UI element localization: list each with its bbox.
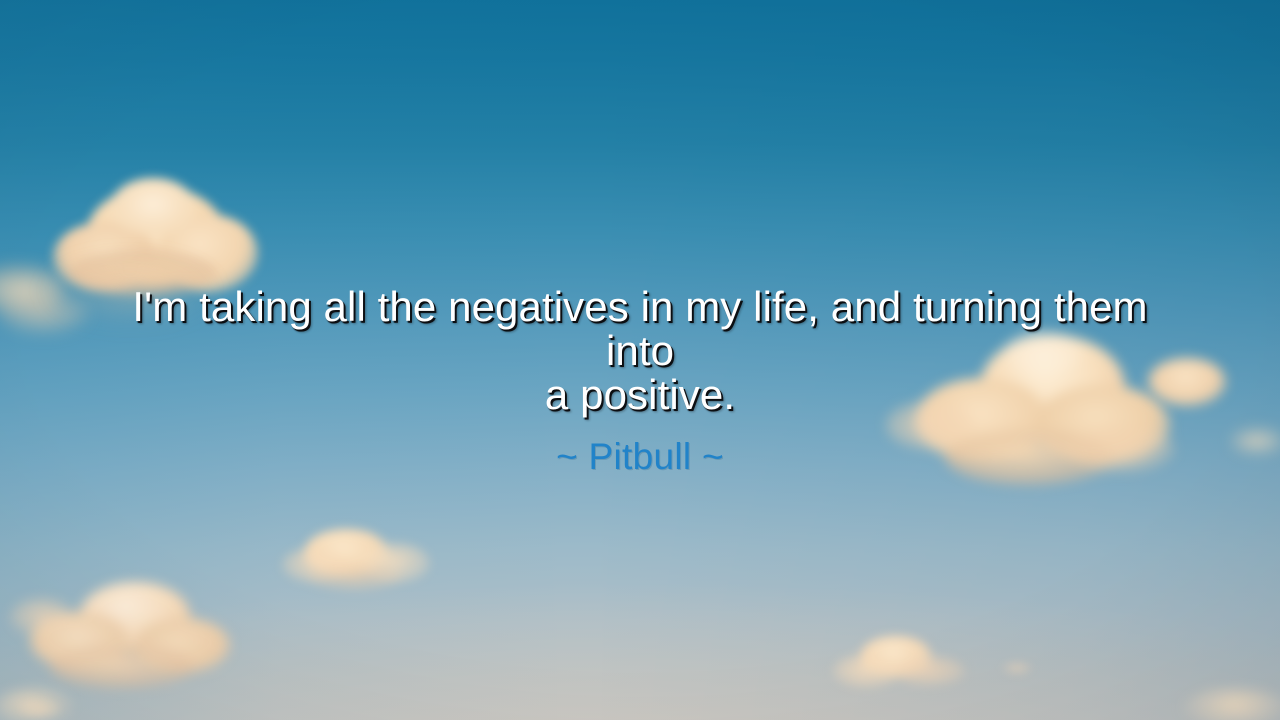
quote-image-scene: I'm taking all the negatives in my life,… (0, 0, 1280, 720)
quote-line-1: I'm taking all the negatives in my life,… (100, 285, 1180, 373)
quote-attribution: ~ Pitbull ~ (100, 437, 1180, 477)
quote-line-2: a positive. (100, 373, 1180, 417)
quote-block: I'm taking all the negatives in my life,… (0, 285, 1280, 477)
